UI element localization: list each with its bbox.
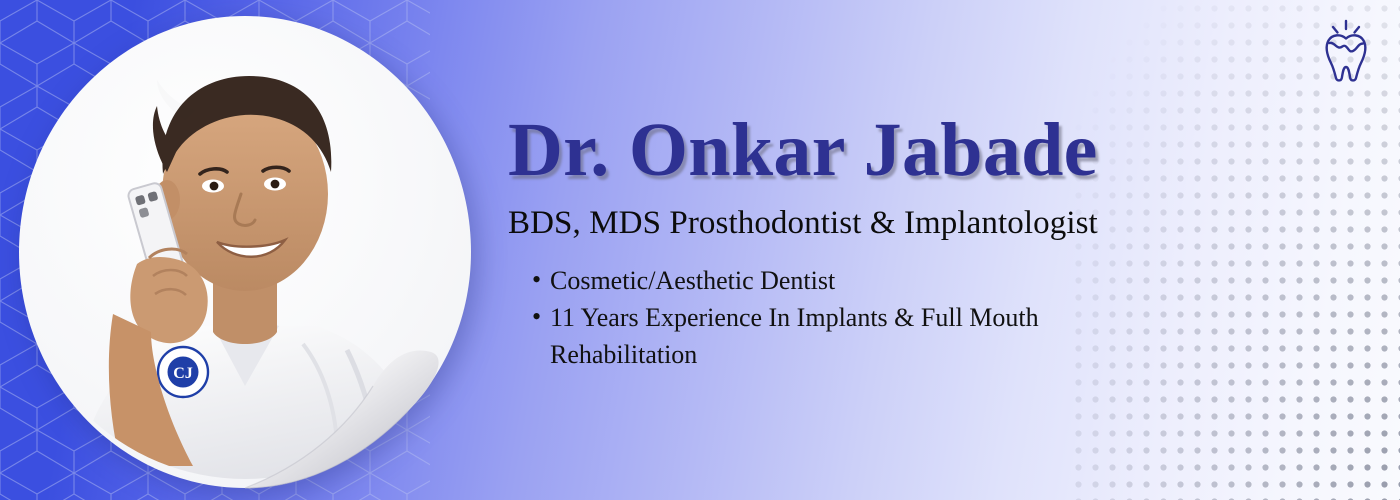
list-item: Cosmetic/Aesthetic Dentist	[508, 263, 1108, 300]
clinic-logo-badge: CJ	[158, 347, 208, 397]
doctor-info-block: Dr. Onkar Jabade BDS, MDS Prosthodontist…	[508, 112, 1208, 374]
svg-text:CJ: CJ	[173, 365, 193, 382]
tooth-sparkle-icon	[1318, 17, 1374, 83]
doctor-credentials: BDS, MDS Prosthodontist & Implantologist	[508, 205, 1208, 243]
doctor-photo: CJ	[17, 14, 473, 490]
doctor-name: Dr. Onkar Jabade	[508, 112, 1208, 188]
doctor-highlights-list: Cosmetic/Aesthetic Dentist 11 Years Expe…	[508, 263, 1208, 374]
doctor-profile-banner: CJ	[0, 0, 1400, 500]
list-item: 11 Years Experience In Implants & Full M…	[508, 300, 1108, 374]
